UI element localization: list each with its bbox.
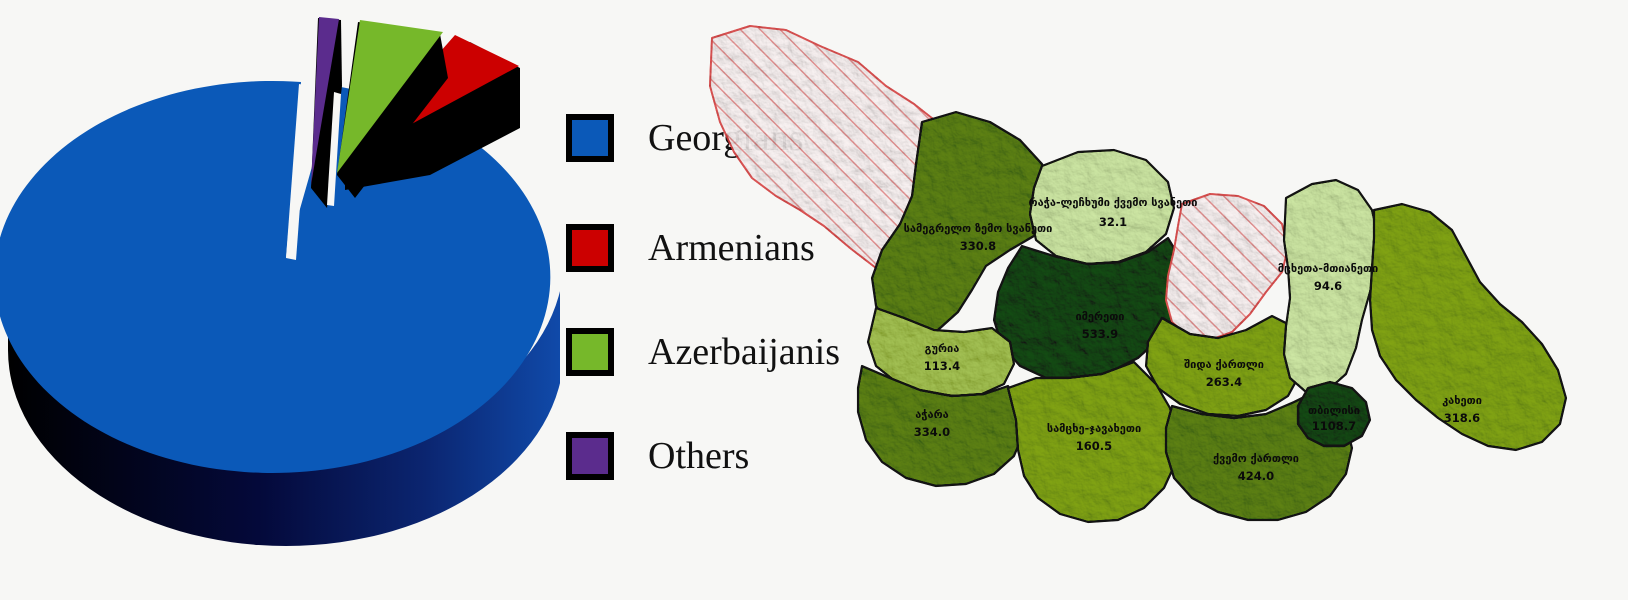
map-label-value: 160.5 [1076,439,1112,453]
map-label-name: ქვემო ქართლი [1213,452,1299,465]
map-label-value: 330.8 [960,239,996,253]
map-label-name: შიდა ქართლი [1184,358,1264,371]
map-label-value: 113.4 [924,359,960,373]
map-label-value: 533.9 [1082,327,1118,341]
map-label-name: რაჭა-ლეჩხუმი ქვემო სვანეთი [1029,196,1198,209]
map-label-value: 263.4 [1206,375,1242,389]
map-label-value: 1108.7 [1312,419,1356,433]
map-label-name: კახეთი [1442,394,1482,407]
map-label-tbilisi: თბილისი 1108.7 [1308,404,1360,433]
map-label-value: 334.0 [914,425,950,439]
map-label-name: იმერეთი [1075,310,1124,323]
map-label-value: 424.0 [1238,469,1274,483]
pie-chart [0,0,560,600]
georgia-map-svg: სამეგრელო ზემო სვანეთი 330.8 რაჭა-ლეჩხუმ… [690,0,1628,600]
map-label-name: აჭარა [915,408,949,421]
legend-swatch-georgians [566,114,614,162]
map-label-name: თბილისი [1308,404,1360,417]
georgia-region-map: სამეგრელო ზემო სვანეთი 330.8 რაჭა-ლეჩხუმ… [690,0,1628,600]
map-label-name: გურია [925,342,960,355]
infographic-root: Georgians Armenians Azerbaijanis Others [0,0,1628,600]
map-label-value: 32.1 [1099,215,1127,229]
map-label-value: 94.6 [1314,279,1342,293]
legend-swatch-armenians [566,224,614,272]
legend-swatch-others [566,432,614,480]
map-label-name: სამეგრელო ზემო სვანეთი [904,222,1053,235]
legend-swatch-azerbaijanis [566,328,614,376]
map-label-name: მცხეთა-მთიანეთი [1278,262,1379,275]
pie-chart-svg [0,0,560,600]
map-label-name: სამცხე-ჯავახეთი [1047,422,1141,435]
map-label-value: 318.6 [1444,411,1480,425]
